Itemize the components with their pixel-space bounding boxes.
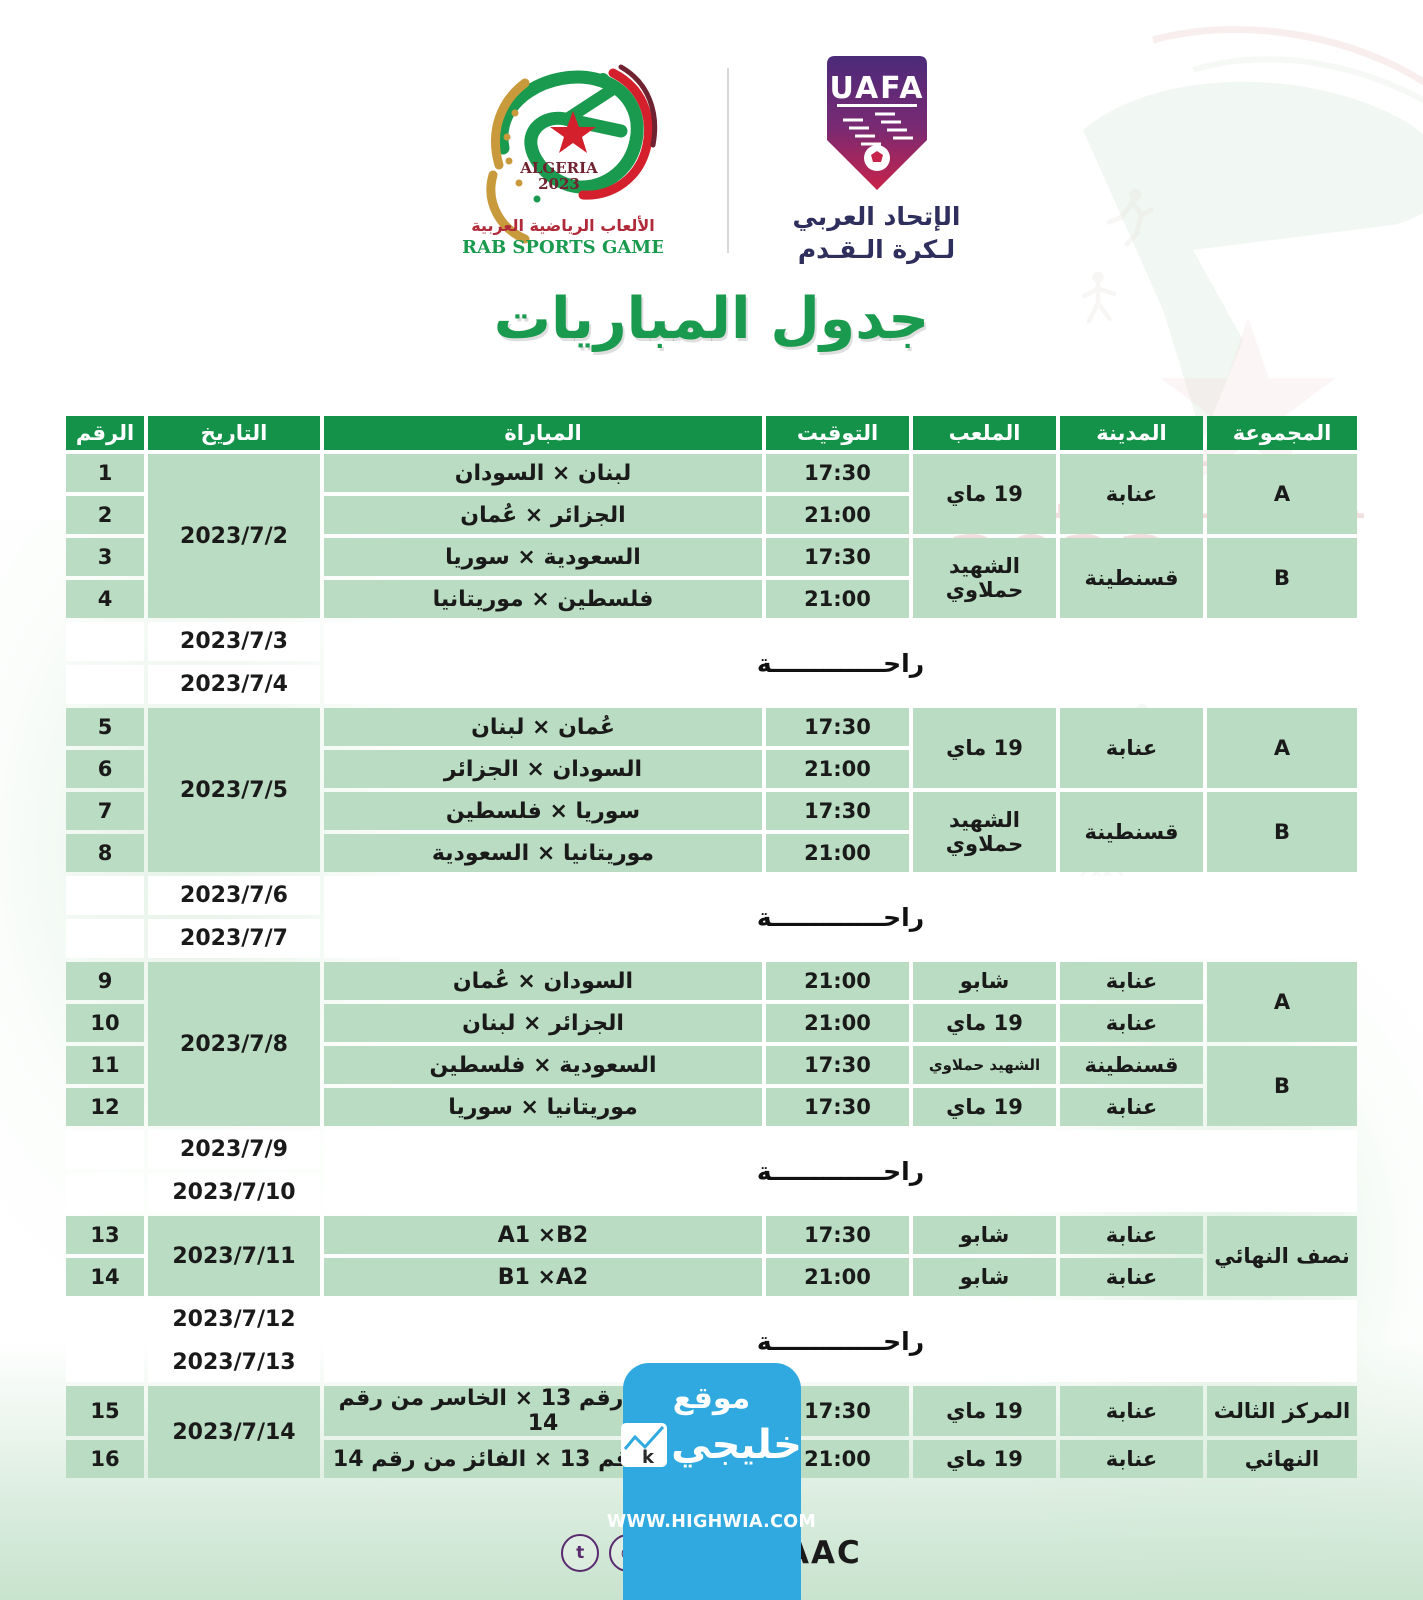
cell-date: 2023/7/14 <box>148 1386 320 1478</box>
cell-match: عُمان × لبنان <box>324 708 762 746</box>
cell-number: 13 <box>66 1216 144 1254</box>
cell-stadium: الشهيد حملاوي <box>913 1046 1056 1084</box>
cell-number-blank <box>66 876 144 915</box>
rest-row: راحـــــــــــــة 2023/7/3 <box>66 622 1357 661</box>
twitter-icon[interactable]: t <box>561 1534 599 1572</box>
cell-match: السعودية × فلسطين <box>324 1046 762 1084</box>
cell-rest-date-top: 2023/7/12 <box>148 1300 320 1339</box>
rest-label: راحـــــــــــــة <box>324 1300 1357 1382</box>
uafa-arabic-name: الإتحاد العربي لـكرة الـقـدم <box>793 200 961 266</box>
table-row: A عنابة 19 ماي 17:30 عُمان × لبنان 2023/… <box>66 708 1357 746</box>
cell-match: السودان × الجزائر <box>324 750 762 788</box>
cell-city: عنابة <box>1060 454 1203 534</box>
svg-text:UAFA: UAFA <box>829 71 924 106</box>
cell-stadium: الشهيد حملاوي <box>913 792 1056 872</box>
cell-group: المركز الثالث <box>1207 1386 1357 1436</box>
cell-rest-date-bottom: 2023/7/7 <box>148 919 320 958</box>
cell-number: 4 <box>66 580 144 618</box>
uafa-arabic-line2: لـكرة الـقـدم <box>793 233 961 266</box>
cell-number: 2 <box>66 496 144 534</box>
cell-stadium: شابو <box>913 962 1056 1000</box>
cell-time: 21:00 <box>766 962 909 1000</box>
cell-date: 2023/7/5 <box>148 708 320 872</box>
column-header-match: المباراة <box>324 416 762 450</box>
cell-match: فلسطين × موريتانيا <box>324 580 762 618</box>
table-row: نصف النهائي عنابة شابو 17:30 A1 ×B2 2023… <box>66 1216 1357 1254</box>
table-header-row: المجموعة المدينة الملعب التوقيت المباراة… <box>66 416 1357 450</box>
column-header-time: التوقيت <box>766 416 909 450</box>
cell-group: B <box>1207 1046 1357 1126</box>
cell-time: 21:00 <box>766 750 909 788</box>
page-title: جدول المباريات <box>0 286 1423 352</box>
cell-number: 10 <box>66 1004 144 1042</box>
cell-group: نصف النهائي <box>1207 1216 1357 1296</box>
cell-number: 8 <box>66 834 144 872</box>
uafa-shield-logo: UAFA <box>817 54 937 194</box>
cell-city: قسنطينة <box>1060 538 1203 618</box>
cell-stadium: 19 ماي <box>913 708 1056 788</box>
cell-rest-date-top: 2023/7/6 <box>148 876 320 915</box>
uafa-logo-block: UAFA الإتحاد العربي لـكرة الـقـدم <box>793 54 961 266</box>
cell-stadium: الشهيد حملاوي <box>913 538 1056 618</box>
cell-number-blank <box>66 919 144 958</box>
watermark-url[interactable]: WWW.HIGHWIA.COM <box>607 1512 816 1532</box>
cell-match: لبنان × السودان <box>324 454 762 492</box>
table-row: A عنابة شابو 21:00 السودان × عُمان 2023/… <box>66 962 1357 1000</box>
uafa-arabic-line1: الإتحاد العربي <box>793 200 961 233</box>
table-row: A عنابة 19 ماي 17:30 لبنان × السودان 202… <box>66 454 1357 492</box>
cell-match: الجزائر × عُمان <box>324 496 762 534</box>
cell-number: 12 <box>66 1088 144 1126</box>
cell-city: عنابة <box>1060 1258 1203 1296</box>
cell-number: 9 <box>66 962 144 1000</box>
cell-stadium: 19 ماي <box>913 1440 1056 1478</box>
svg-text:2023: 2023 <box>538 175 580 193</box>
cell-time: 21:00 <box>766 834 909 872</box>
cell-group: B <box>1207 792 1357 872</box>
cell-city: عنابة <box>1060 962 1203 1000</box>
cell-match: موريتانيا × السعودية <box>324 834 762 872</box>
cell-stadium: شابو <box>913 1258 1056 1296</box>
cell-number-blank <box>66 622 144 661</box>
cell-number: 14 <box>66 1258 144 1296</box>
cell-match: موريتانيا × سوريا <box>324 1088 762 1126</box>
cell-number: 3 <box>66 538 144 576</box>
cell-number: 6 <box>66 750 144 788</box>
cell-number: 5 <box>66 708 144 746</box>
cell-city: عنابة <box>1060 1440 1203 1478</box>
cell-rest-date-bottom: 2023/7/13 <box>148 1343 320 1382</box>
rest-label: راحـــــــــــــة <box>324 1130 1357 1212</box>
cell-number-blank <box>66 1130 144 1169</box>
cell-group: A <box>1207 454 1357 534</box>
cell-time: 17:30 <box>766 1216 909 1254</box>
cell-date: 2023/7/2 <box>148 454 320 618</box>
match-schedule-table-wrapper: المجموعة المدينة الملعب التوقيت المباراة… <box>62 412 1361 1482</box>
cell-city: عنابة <box>1060 1088 1203 1126</box>
cell-number: 1 <box>66 454 144 492</box>
cell-match: A1 ×B2 <box>324 1216 762 1254</box>
match-schedule-table: المجموعة المدينة الملعب التوقيت المباراة… <box>62 412 1361 1482</box>
cell-city: عنابة <box>1060 1216 1203 1254</box>
cell-number-blank <box>66 1173 144 1212</box>
column-header-stadium: الملعب <box>913 416 1056 450</box>
watermark-word-mawqe: موقع <box>673 1381 751 1416</box>
cell-city: عنابة <box>1060 1004 1203 1042</box>
cell-time: 17:30 <box>766 538 909 576</box>
cell-city: عنابة <box>1060 708 1203 788</box>
svg-text:الألعاب الرياضية العربية: الألعاب الرياضية العربية <box>471 216 655 235</box>
cell-rest-date-top: 2023/7/9 <box>148 1130 320 1169</box>
cell-time: 17:30 <box>766 708 909 746</box>
cell-stadium: 19 ماي <box>913 1386 1056 1436</box>
cell-time: 17:30 <box>766 454 909 492</box>
logo-divider <box>727 68 729 253</box>
cell-date: 2023/7/11 <box>148 1216 320 1296</box>
cell-number: 16 <box>66 1440 144 1478</box>
cell-rest-date-bottom: 2023/7/10 <box>148 1173 320 1212</box>
site-watermark-badge: موقع خليجي k WWW.HIGHWIA.COM <box>623 1363 801 1600</box>
cell-number: 7 <box>66 792 144 830</box>
cell-number: 15 <box>66 1386 144 1436</box>
column-header-city: المدينة <box>1060 416 1203 450</box>
cell-match: B1 ×A2 <box>324 1258 762 1296</box>
cell-group: النهائي <box>1207 1440 1357 1478</box>
cell-group: A <box>1207 708 1357 788</box>
column-header-number: الرقم <box>66 416 144 450</box>
rest-row: راحـــــــــــــة 2023/7/12 <box>66 1300 1357 1339</box>
cell-stadium: شابو <box>913 1216 1056 1254</box>
watermark-word-khaleeji: خليجي <box>671 1422 802 1468</box>
cell-time: 21:00 <box>766 1258 909 1296</box>
cell-stadium: 19 ماي <box>913 1088 1056 1126</box>
cell-number-blank <box>66 1300 144 1339</box>
cell-match: الجزائر × لبنان <box>324 1004 762 1042</box>
cell-time: 17:30 <box>766 792 909 830</box>
cell-time: 21:00 <box>766 1004 909 1042</box>
cell-group: A <box>1207 962 1357 1042</box>
svg-text:k: k <box>642 1447 655 1467</box>
cell-city: عنابة <box>1060 1386 1203 1436</box>
cell-stadium: 19 ماي <box>913 454 1056 534</box>
cell-time: 21:00 <box>766 580 909 618</box>
rest-label: راحـــــــــــــة <box>324 876 1357 958</box>
svg-text:ARAB SPORTS GAMES: ARAB SPORTS GAMES <box>463 237 663 258</box>
arab-sports-games-logo: ALGERIA 2023 الألعاب الرياضية العربية AR… <box>463 53 663 268</box>
cell-number-blank <box>66 665 144 704</box>
watermark-k-badge-icon: k <box>621 1423 667 1467</box>
cell-stadium: 19 ماي <box>913 1004 1056 1042</box>
cell-time: 21:00 <box>766 496 909 534</box>
cell-time: 17:30 <box>766 1046 909 1084</box>
cell-match: السعودية × سوريا <box>324 538 762 576</box>
cell-rest-date-bottom: 2023/7/4 <box>148 665 320 704</box>
cell-match: سوريا × فلسطين <box>324 792 762 830</box>
column-header-group: المجموعة <box>1207 416 1357 450</box>
cell-match: السودان × عُمان <box>324 962 762 1000</box>
cell-date: 2023/7/8 <box>148 962 320 1126</box>
rest-row: راحـــــــــــــة 2023/7/6 <box>66 876 1357 915</box>
column-header-date: التاريخ <box>148 416 320 450</box>
cell-number: 11 <box>66 1046 144 1084</box>
cell-city: قسنطينة <box>1060 792 1203 872</box>
cell-group: B <box>1207 538 1357 618</box>
rest-label: راحـــــــــــــة <box>324 622 1357 704</box>
cell-rest-date-top: 2023/7/3 <box>148 622 320 661</box>
cell-time: 17:30 <box>766 1088 909 1126</box>
cell-city: قسنطينة <box>1060 1046 1203 1084</box>
rest-row: راحـــــــــــــة 2023/7/9 <box>66 1130 1357 1169</box>
page-header: ALGERIA 2023 الألعاب الرياضية العربية AR… <box>0 40 1423 280</box>
cell-number-blank <box>66 1343 144 1382</box>
